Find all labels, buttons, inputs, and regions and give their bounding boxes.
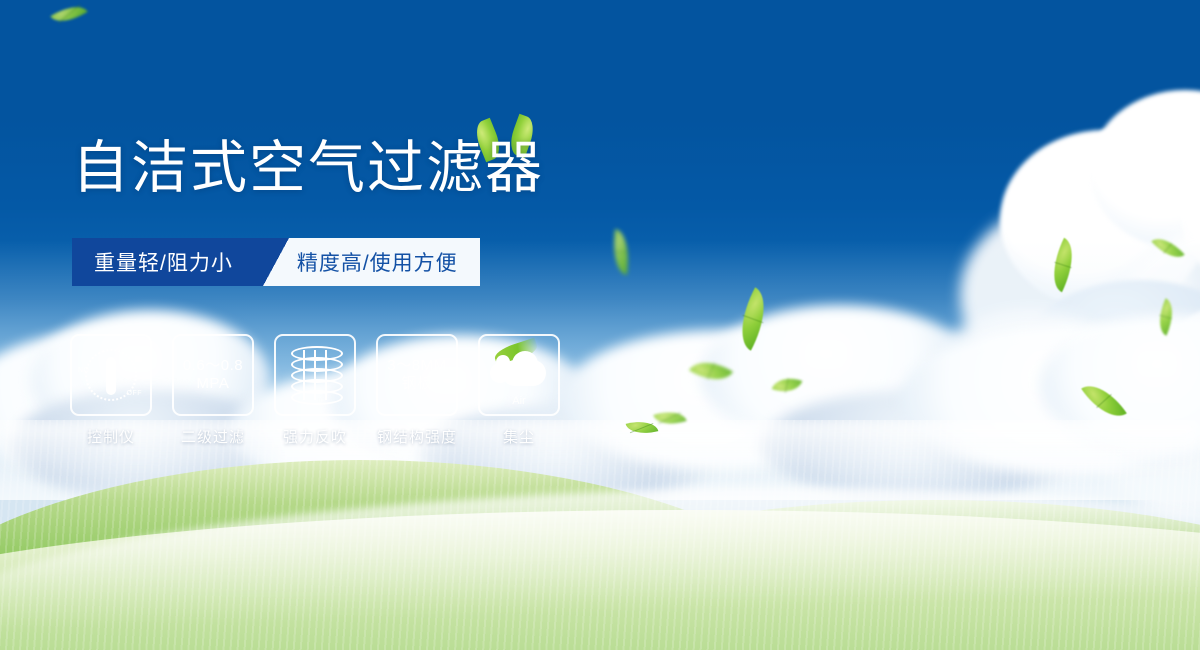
feature-item-two-stage-filter[interactable]: 0.6～0.8 MPA 二级过滤 [174,334,252,447]
floating-leaf [50,0,87,30]
feature-label: 钢结构强度 [377,426,457,447]
dial-no-label: NO [78,367,90,374]
feature-icon-box: NO OFF [70,334,152,416]
feature-list: NO OFF 控制仪 0.6～0.8 MPA 二级过滤 [72,334,558,447]
feature-label: 集尘 [503,426,535,447]
pressure-unit: MPA [183,375,243,393]
subtitle-secondary: 精度高/使用方便 [289,238,480,286]
feature-icon-box: Air [478,334,560,416]
feature-item-dust-collection[interactable]: Air 集尘 [480,334,558,447]
steel-plate-text-icon: 3～8MM 钢板 [387,357,446,392]
subtitle-bar: 重量轻/阻力小 精度高/使用方便 [72,238,480,286]
feature-label: 控制仪 [87,426,135,447]
floating-leaf [1042,238,1084,293]
steel-thickness-value: 3～8MM [387,357,446,375]
feature-label: 二级过滤 [181,426,245,447]
floating-leaf [609,229,633,275]
pressure-text-icon: 0.6～0.8 MPA [183,357,243,392]
subtitle-wedge-divider [263,238,289,286]
air-cloud-icon: Air [488,346,550,404]
filter-stack-icon [287,346,343,404]
feature-icon-box: 3～8MM 钢板 [376,334,458,416]
feature-item-controller[interactable]: NO OFF 控制仪 [72,334,150,447]
subtitle-primary: 重量轻/阻力小 [72,238,263,286]
floating-leaf [1151,231,1184,265]
feature-item-steel-strength[interactable]: 3～8MM 钢板 钢结构强度 [378,334,456,447]
grass-field [0,420,1200,650]
feature-icon-box [274,334,356,416]
feature-item-blowback[interactable]: 强力反吹 [276,334,354,447]
product-hero-banner: 自洁式空气过滤器 重量轻/阻力小 精度高/使用方便 NO OFF 控制仪 0.6… [0,0,1200,650]
steel-plate-label: 钢板 [387,375,446,393]
dial-gauge-icon: NO OFF [81,345,141,405]
dial-off-label: OFF [127,390,143,397]
pressure-range-value: 0.6～0.8 [183,357,243,375]
page-title: 自洁式空气过滤器 [72,140,544,197]
air-label: Air [488,395,550,407]
feature-icon-box: 0.6～0.8 MPA [172,334,254,416]
feature-label: 强力反吹 [283,426,347,447]
